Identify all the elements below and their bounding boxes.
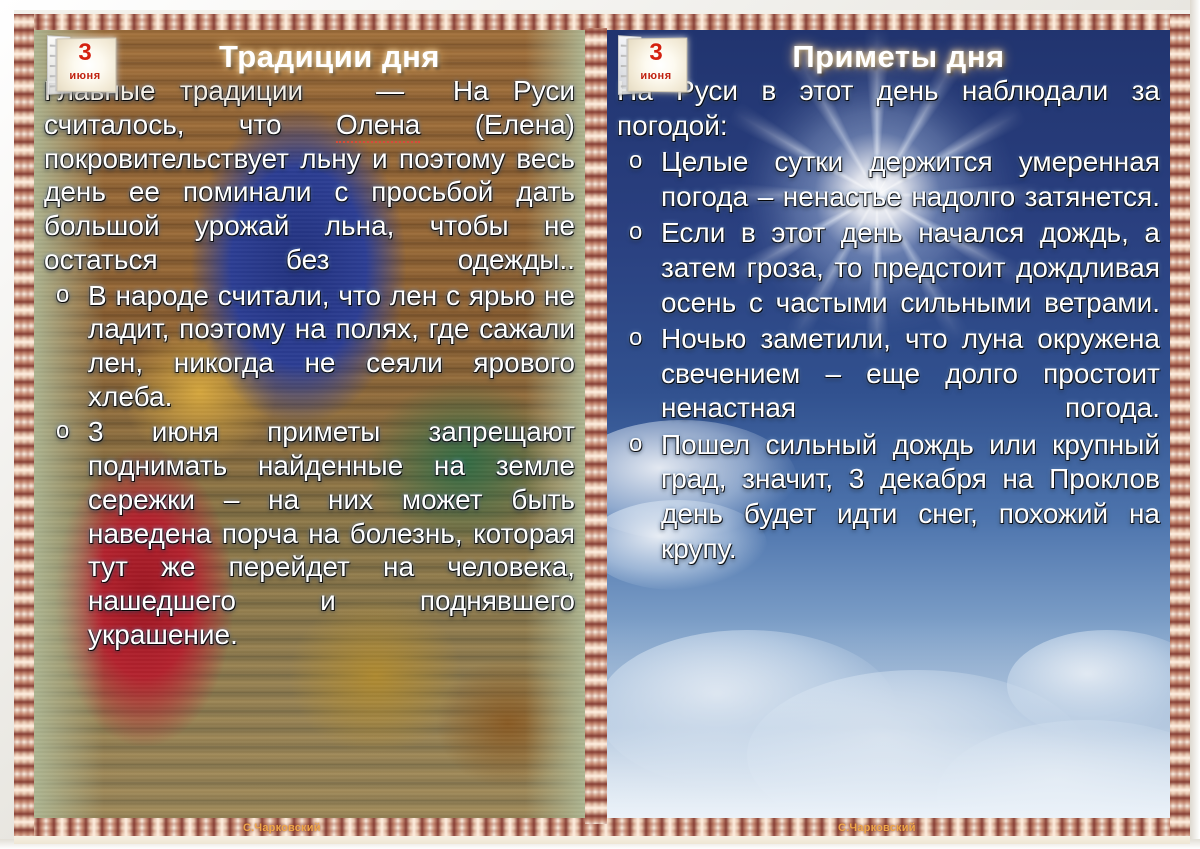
traditions-intro-paragraph: Главные традиции — На Руси считалось, чт…: [44, 74, 575, 276]
list-item: 3 июня приметы запрещают поднимать найде…: [44, 415, 575, 651]
calendar-icon: 3 июня: [617, 34, 689, 96]
calendar-day-number: 3: [56, 40, 114, 65]
list-item: Ночью заметили, что луна окружена свечен…: [617, 322, 1160, 426]
traditions-lead-dash: —: [303, 75, 453, 106]
omens-content: Приметы дня На Руси в этот день наблюдал…: [607, 30, 1170, 818]
traditions-bullet-list: В народе считали, что лен с ярью не лади…: [44, 279, 575, 652]
page-edge-left: [0, 0, 14, 849]
calendar-icon: 3 июня: [46, 34, 118, 96]
omens-bullet-list: Целые сутки держится умеренная погода – …: [617, 145, 1160, 566]
ornamental-border-right: [1170, 14, 1190, 838]
calendar-day-number: 3: [627, 40, 685, 65]
poster-canvas: 3 июня Традиции дня Главные традиции — Н…: [0, 0, 1200, 849]
calendar-month-label: июня: [56, 70, 114, 82]
list-item: Пошел сильный дождь или крупный град, зн…: [617, 428, 1160, 566]
ornamental-divider: [585, 28, 607, 824]
traditions-panel: 3 июня Традиции дня Главные традиции — Н…: [34, 30, 585, 818]
traditions-content: Традиции дня Главные традиции — На Руси …: [34, 30, 585, 818]
omens-panel: 3 июня Приметы дня На Руси в этот день н…: [607, 30, 1170, 818]
traditions-title: Традиции дня: [44, 40, 575, 74]
list-item: Целые сутки держится умеренная погода – …: [617, 145, 1160, 214]
traditions-intro-name: Олена: [336, 109, 420, 143]
list-item: Если в этот день начался дождь, а затем …: [617, 216, 1160, 320]
page-edge-top: [0, 0, 1200, 10]
ornamental-border-left: [14, 14, 34, 838]
calendar-month-label: июня: [627, 70, 685, 82]
watermark-left: С.Чарковский: [243, 822, 321, 834]
omens-intro-paragraph: На Руси в этот день наблюдали за погодой…: [617, 74, 1160, 143]
omens-title: Приметы дня: [617, 40, 1160, 74]
watermark-right: С.Чарковский: [838, 822, 916, 834]
bottom-cream-strip: [14, 836, 1190, 844]
page-edge-right: [1190, 0, 1200, 849]
list-item: В народе считали, что лен с ярью не лади…: [44, 279, 575, 414]
